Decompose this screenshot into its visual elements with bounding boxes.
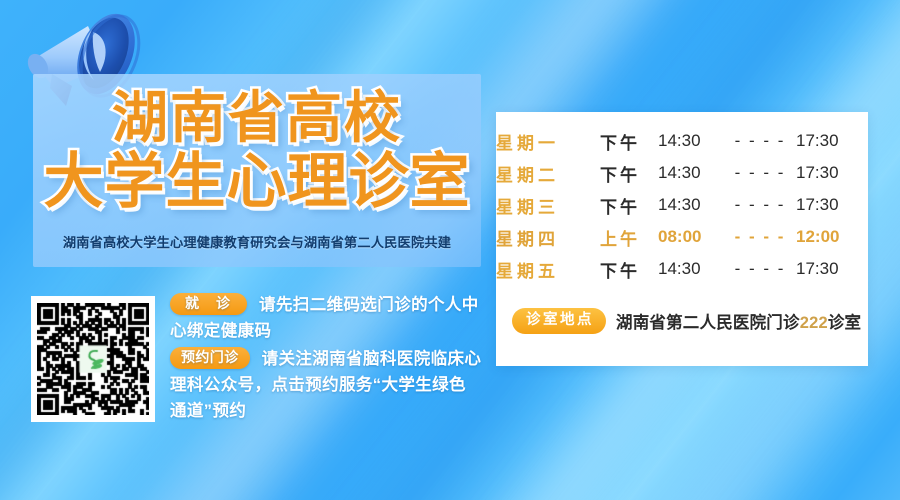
badge-visit: 就诊: [170, 293, 247, 315]
schedule-period: 下午: [600, 157, 658, 189]
list-item: 预约门诊请关注湖南省脑科医院临床心理科公众号，点击预约服务“大学生绿色通道”预约: [170, 346, 482, 424]
qr-code-canvas: [37, 303, 149, 415]
table-row: 星期一下午14:30- - - -17:30: [496, 125, 868, 157]
title-block: 湖南省高校 大学生心理诊室 湖南省高校大学生心理健康教育研究会与湖南省第二人民医…: [33, 72, 481, 272]
location-text: 湖南省第二人民医院门诊222诊室: [616, 309, 861, 333]
schedule-period: 下午: [600, 189, 658, 221]
schedule-separator: - - - -: [724, 157, 796, 189]
poster-banner: 湖南省高校 大学生心理诊室 湖南省高校大学生心理健康教育研究会与湖南省第二人民医…: [0, 0, 900, 500]
schedule-start-time: 14:30: [658, 125, 724, 157]
schedule-separator: - - - -: [724, 221, 796, 253]
schedule-separator: - - - -: [724, 125, 796, 157]
schedule-end-time: 17:30: [796, 125, 868, 157]
schedule-day: 星期一: [496, 125, 600, 157]
location-row: 诊室地点 湖南省第二人民医院门诊222诊室: [496, 308, 868, 334]
schedule-period: 下午: [600, 253, 658, 285]
schedule-start-time: 14:30: [658, 157, 724, 189]
info-block: 就诊请先扫二维码选门诊的个人中心绑定健康码 预约门诊请关注湖南省脑科医院临床心理…: [170, 292, 482, 426]
table-row: 星期五下午14:30- - - -17:30: [496, 253, 868, 285]
schedule-end-time: 17:30: [796, 157, 868, 189]
badge-location: 诊室地点: [512, 308, 606, 334]
schedule-day: 星期五: [496, 253, 600, 285]
schedule-separator: - - - -: [724, 253, 796, 285]
location-prefix: 湖南省第二人民医院门诊: [616, 314, 800, 332]
schedule-end-time: 12:00: [796, 221, 868, 253]
poster-title-line-2: 大学生心理诊室: [33, 152, 481, 212]
schedule-end-time: 17:30: [796, 189, 868, 221]
schedule-day: 星期三: [496, 189, 600, 221]
schedule-day: 星期二: [496, 157, 600, 189]
table-row: 星期四上午08:00- - - -12:00: [496, 221, 868, 253]
schedule-start-time: 14:30: [658, 189, 724, 221]
schedule-period: 上午: [600, 221, 658, 253]
schedule-card: 星期一下午14:30- - - -17:30星期二下午14:30- - - -1…: [496, 112, 868, 366]
table-row: 星期三下午14:30- - - -17:30: [496, 189, 868, 221]
table-row: 星期二下午14:30- - - -17:30: [496, 157, 868, 189]
badge-appointment: 预约门诊: [170, 347, 250, 369]
schedule-separator: - - - -: [724, 189, 796, 221]
schedule-table: 星期一下午14:30- - - -17:30星期二下午14:30- - - -1…: [496, 125, 868, 285]
qr-code[interactable]: [31, 296, 155, 422]
schedule-end-time: 17:30: [796, 253, 868, 285]
list-item: 就诊请先扫二维码选门诊的个人中心绑定健康码: [170, 292, 482, 344]
schedule-day: 星期四: [496, 221, 600, 253]
location-suffix: 诊室: [828, 314, 861, 332]
schedule-period: 下午: [600, 125, 658, 157]
schedule-start-time: 08:00: [658, 221, 724, 253]
poster-title-line-1: 湖南省高校: [33, 90, 481, 146]
location-room-number: 222: [800, 314, 828, 332]
schedule-start-time: 14:30: [658, 253, 724, 285]
poster-subtitle: 湖南省高校大学生心理健康教育研究会与湖南省第二人民医院共建: [33, 232, 481, 251]
